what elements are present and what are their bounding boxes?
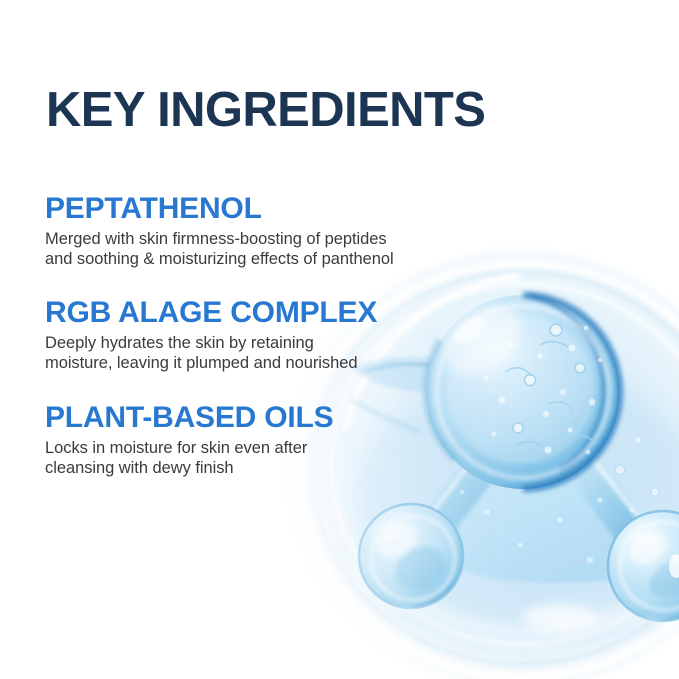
ingredient-description-line: Deeply hydrates the skin by retaining <box>45 333 465 353</box>
ingredient-description-line: Merged with skin firmness-boosting of pe… <box>45 229 465 249</box>
ingredient-block-rgb-alage-complex: RGB ALAGE COMPLEX Deeply hydrates the sk… <box>45 297 465 373</box>
content-column: KEY INGREDIENTS PEPTATHENOL Merged with … <box>0 0 679 679</box>
ingredient-description: Deeply hydrates the skin by retaining mo… <box>45 333 465 373</box>
ingredient-block-peptathenol: PEPTATHENOL Merged with skin firmness-bo… <box>45 193 465 269</box>
ingredient-block-plant-based-oils: PLANT-BASED OILS Locks in moisture for s… <box>45 402 465 478</box>
ingredient-description: Merged with skin firmness-boosting of pe… <box>45 229 465 269</box>
ingredient-description-line: cleansing with dewy finish <box>45 458 465 478</box>
ingredient-description-line: moisture, leaving it plumped and nourish… <box>45 353 465 373</box>
page-title: KEY INGREDIENTS <box>46 86 485 135</box>
ingredient-description-line: and soothing & moisturizing effects of p… <box>45 249 465 269</box>
ingredient-name: RGB ALAGE COMPLEX <box>45 297 465 329</box>
ingredient-description-line: Locks in moisture for skin even after <box>45 438 465 458</box>
ingredient-description: Locks in moisture for skin even after cl… <box>45 438 465 478</box>
key-ingredients-page: KEY INGREDIENTS PEPTATHENOL Merged with … <box>0 0 679 679</box>
ingredient-name: PLANT-BASED OILS <box>45 402 465 434</box>
ingredient-name: PEPTATHENOL <box>45 193 465 225</box>
